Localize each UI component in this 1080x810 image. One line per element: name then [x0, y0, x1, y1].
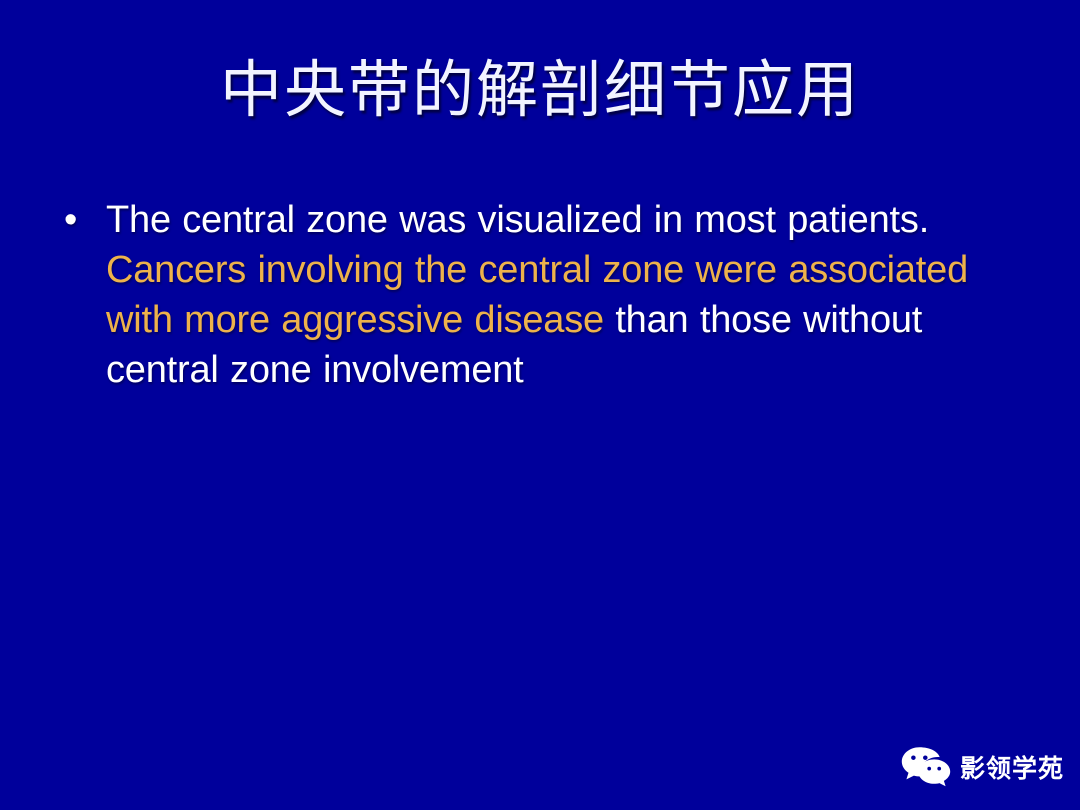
bullet-list: • The central zone was visualized in mos… [56, 195, 1016, 395]
slide-canvas: 中央带的解剖细节应用 • The central zone was visual… [0, 0, 1080, 810]
bullet-point-icon: • [56, 195, 106, 245]
watermark-label: 影领学苑 [960, 749, 1064, 785]
bullet-text-body: The central zone was visualized in most … [106, 195, 1016, 395]
bullet-segment-plain-lead: The central zone was visualized in most … [106, 199, 929, 241]
page-title: 中央带的解剖细节应用 [0, 52, 1080, 128]
watermark: 影领学苑 [901, 746, 1064, 788]
wechat-icon [901, 746, 951, 788]
list-item: • The central zone was visualized in mos… [56, 195, 1016, 395]
